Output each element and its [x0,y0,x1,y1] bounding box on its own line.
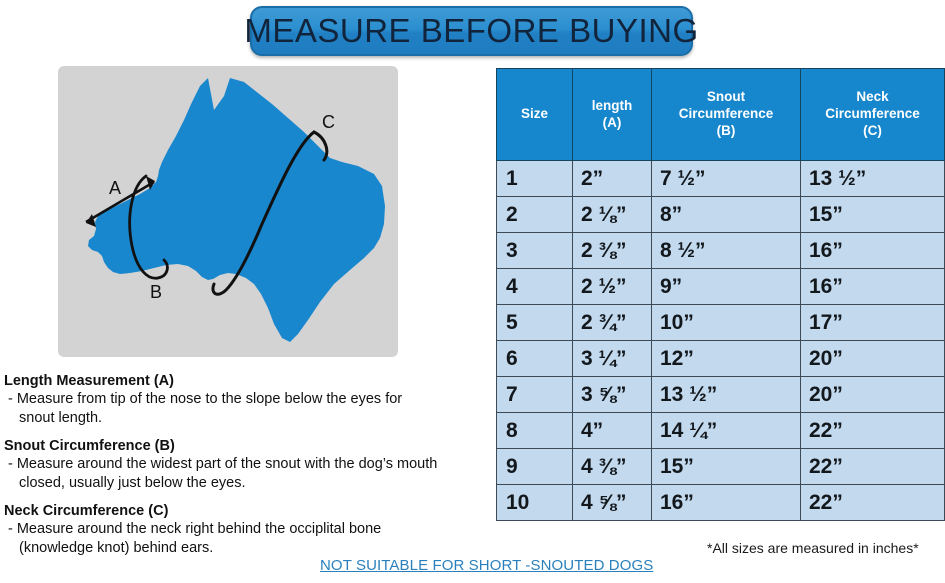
instruction-line-2: closed, usually just below the eyes. [8,474,486,493]
table-row: 6 3 ¼” 12” 20” [497,341,945,377]
table-row: 1 2” 7 ½” 13 ½” [497,161,945,197]
table-body: 1 2” 7 ½” 13 ½” 2 2 ⅛” 8” 15” 3 2 ⅜” 8 ½… [497,161,945,521]
not-suitable-warning-link[interactable]: NOT SUITABLE FOR SHORT -SNOUTED DOGS [320,557,653,574]
instruction-title-snout: Snout Circumference (B) [4,437,486,455]
instruction-line-1: - Measure around the neck right behind t… [8,521,381,537]
cell-snout: 15” [652,449,801,485]
cell-neck: 17” [801,305,945,341]
cell-length: 2 ⅛” [573,197,652,233]
instruction-body-length: - Measure from tip of the nose to the sl… [4,390,486,428]
cell-length: 4 ⅝” [573,485,652,521]
table-row: 8 4” 14 ¼” 22” [497,413,945,449]
table-row: 4 2 ½” 9” 16” [497,269,945,305]
instruction-block-snout: Snout Circumference (B) - Measure around… [4,437,486,493]
cell-size: 9 [497,449,573,485]
cell-neck: 22” [801,449,945,485]
column-header-length-line2: (A) [603,115,622,130]
column-header-size: Size [497,69,573,161]
cell-snout: 8 ½” [652,233,801,269]
instruction-block-length: Length Measurement (A) - Measure from ti… [4,372,486,428]
column-header-neck: Neck Circumference (C) [801,69,945,161]
cell-length: 2 ¾” [573,305,652,341]
cell-size: 1 [497,161,573,197]
marker-c-label: C [322,112,335,132]
page-title: MEASURE BEFORE BUYING [244,12,698,50]
cell-size: 5 [497,305,573,341]
instruction-body-snout: - Measure around the widest part of the … [4,455,486,493]
table-row: 2 2 ⅛” 8” 15” [497,197,945,233]
title-banner: MEASURE BEFORE BUYING [250,6,693,56]
cell-size: 2 [497,197,573,233]
cell-snout: 12” [652,341,801,377]
cell-size: 7 [497,377,573,413]
cell-length: 2 ⅜” [573,233,652,269]
table-row: 10 4 ⅝” 16” 22” [497,485,945,521]
column-header-neck-line3: (C) [863,123,882,138]
cell-length: 2 ½” [573,269,652,305]
size-chart-table: Size length (A) Snout Circumference (B) … [496,68,945,521]
instruction-line-1: - Measure around the widest part of the … [8,456,437,472]
cell-neck: 16” [801,233,945,269]
instruction-body-neck: - Measure around the neck right behind t… [4,520,486,558]
table-row: 7 3 ⅝” 13 ½” 20” [497,377,945,413]
cell-length: 3 ¼” [573,341,652,377]
cell-snout: 7 ½” [652,161,801,197]
measurement-instructions: Length Measurement (A) - Measure from ti… [4,372,486,566]
table-row: 3 2 ⅜” 8 ½” 16” [497,233,945,269]
cell-snout: 13 ½” [652,377,801,413]
column-header-snout: Snout Circumference (B) [652,69,801,161]
cell-snout: 9” [652,269,801,305]
cell-neck: 20” [801,377,945,413]
instruction-line-2: (knowledge knot) behind ears. [8,539,486,558]
cell-neck: 22” [801,413,945,449]
cell-size: 6 [497,341,573,377]
cell-neck: 20” [801,341,945,377]
table-row: 9 4 ⅜” 15” 22” [497,449,945,485]
cell-size: 10 [497,485,573,521]
cell-neck: 13 ½” [801,161,945,197]
cell-snout: 8” [652,197,801,233]
instruction-line-1: - Measure from tip of the nose to the sl… [8,391,402,407]
cell-length: 3 ⅝” [573,377,652,413]
table-row: 5 2 ¾” 10” 17” [497,305,945,341]
column-header-length-line1: length [592,98,633,113]
dog-silhouette-shape [88,78,385,342]
column-header-snout-line3: (B) [717,123,736,138]
cell-length: 2” [573,161,652,197]
marker-b-label: B [150,282,162,302]
dog-head-silhouette-svg: A B C [58,66,398,357]
cell-length: 4 ⅜” [573,449,652,485]
cell-neck: 22” [801,485,945,521]
table-header-row: Size length (A) Snout Circumference (B) … [497,69,945,161]
cell-length: 4” [573,413,652,449]
instruction-title-neck: Neck Circumference (C) [4,502,486,520]
column-header-snout-line2: Circumference [679,106,774,121]
cell-snout: 16” [652,485,801,521]
column-header-length: length (A) [573,69,652,161]
dog-head-measurement-diagram: A B C [58,66,398,357]
column-header-size-label: Size [521,106,548,121]
marker-a-label: A [109,178,121,198]
cell-snout: 10” [652,305,801,341]
cell-size: 3 [497,233,573,269]
instruction-line-2: snout length. [8,409,486,428]
instruction-title-length: Length Measurement (A) [4,372,486,390]
cell-size: 4 [497,269,573,305]
cell-neck: 15” [801,197,945,233]
cell-size: 8 [497,413,573,449]
column-header-snout-line1: Snout [707,89,745,104]
cell-neck: 16” [801,269,945,305]
units-footnote: *All sizes are measured in inches* [707,540,919,556]
column-header-neck-line2: Circumference [825,106,920,121]
column-header-neck-line1: Neck [856,89,888,104]
cell-snout: 14 ¼” [652,413,801,449]
instruction-block-neck: Neck Circumference (C) - Measure around … [4,502,486,558]
